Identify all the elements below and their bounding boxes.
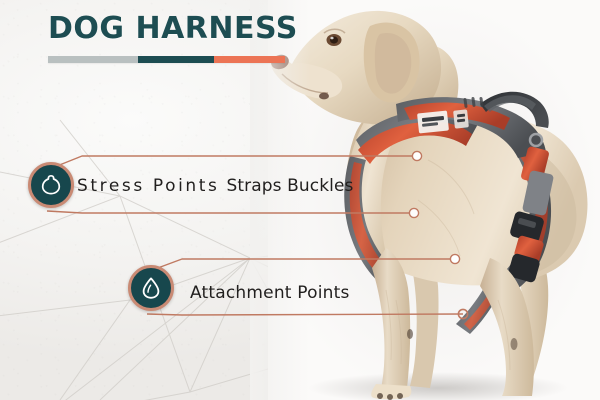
stress-points-badge[interactable] [28, 162, 74, 208]
attachment-points-label: Attachment Points [190, 283, 350, 303]
dog-harness-photo [268, 0, 600, 400]
page-title: DOG HARNESS [48, 14, 298, 44]
header: DOG HARNESS [48, 14, 298, 63]
attachment-points-badge[interactable] [128, 265, 174, 311]
stress-points-label: Stress PointsStraps Buckles [77, 176, 354, 196]
title-underline-rule [48, 56, 285, 63]
stress-points-label-primary: Stress Points [77, 176, 220, 196]
rule-segment-orange [214, 56, 285, 63]
stress-points-label-secondary: Straps Buckles [227, 176, 354, 196]
rule-segment-teal [138, 56, 214, 63]
infographic-canvas: DOG HARNESS [0, 0, 600, 400]
rule-segment-gray [48, 56, 138, 63]
water-drop-icon [138, 275, 164, 301]
harness-vest-icon [38, 172, 64, 198]
